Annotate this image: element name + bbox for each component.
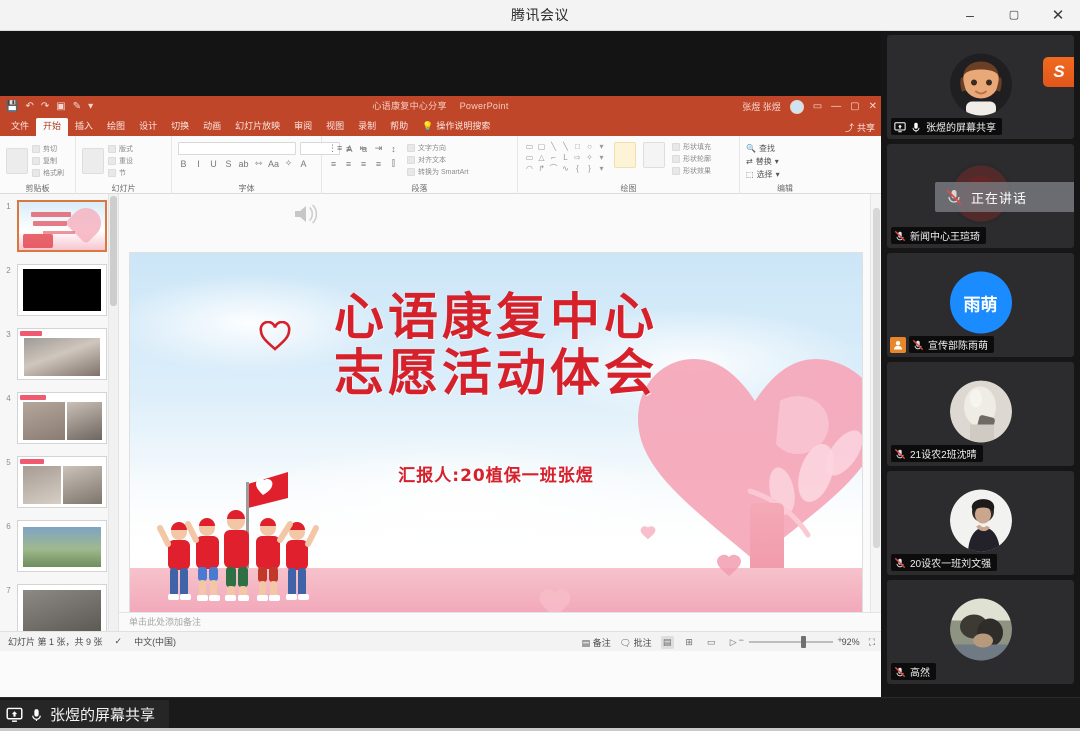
smartart-item[interactable]: 转换为 SmartArt bbox=[407, 167, 469, 177]
avatar-initials: 雨萌 bbox=[950, 272, 1012, 334]
thumbnail-number: 4 bbox=[0, 386, 17, 403]
layout-icon bbox=[108, 145, 116, 153]
bullets-icon[interactable]: ⋮≡ bbox=[328, 143, 339, 154]
mic-muted-icon bbox=[912, 339, 924, 351]
shape-rect-icon[interactable]: ▭ bbox=[524, 142, 535, 152]
mic-muted-icon bbox=[894, 557, 906, 569]
ribbon-group-slides: 版式 重设 节 幻灯片 bbox=[76, 136, 172, 194]
participant-tile-4[interactable]: 21设农2班沈晴 bbox=[887, 362, 1074, 466]
speaking-toast-label: 正在讲话 bbox=[971, 188, 1027, 207]
shadow-icon[interactable]: ab bbox=[238, 159, 249, 169]
justify-icon[interactable]: ≡ bbox=[373, 159, 384, 169]
text-direction-item[interactable]: 文字方向 bbox=[407, 143, 469, 153]
shape-fill-item[interactable]: 形状填充 bbox=[672, 142, 711, 152]
comments-label: 批注 bbox=[634, 638, 652, 648]
window-close-button[interactable]: ✕ bbox=[1036, 0, 1080, 31]
find-label: 查找 bbox=[759, 143, 775, 154]
copy-icon bbox=[32, 157, 40, 165]
participant-name-tag: 21设农2班沈晴 bbox=[891, 445, 983, 462]
mic-icon bbox=[29, 706, 44, 723]
ribbon-group-drawing: ▭ ▢ ╲ ╲ □ ○ ▾ ▭ △ ⌐ L ⇨ ✧ bbox=[518, 136, 740, 194]
thumbnail-number: 1 bbox=[0, 194, 17, 211]
layout-label: 版式 bbox=[119, 144, 133, 154]
section-label: 节 bbox=[119, 168, 126, 178]
replace-item[interactable]: ⇄替换▾ bbox=[746, 156, 780, 167]
replace-icon: ⇄ bbox=[746, 157, 753, 166]
group-label-paragraph: 段落 bbox=[328, 183, 511, 194]
zoom-knob[interactable] bbox=[801, 636, 806, 648]
speaking-toast: 正在讲话 bbox=[935, 182, 1074, 212]
editor-main-area: 1 2 bbox=[0, 194, 881, 631]
notes-pane[interactable]: 单击此处添加备注 bbox=[119, 612, 881, 631]
italic-icon[interactable]: I bbox=[193, 159, 204, 169]
select-label: 选择 bbox=[757, 169, 773, 180]
powerpoint-window: 💾 ↶ ↷ ▣ ✎ ▾ 心语康复中心分享 PowerPoint 张煜 张煜 ▭ … bbox=[0, 96, 881, 699]
find-item[interactable]: 🔍查找 bbox=[746, 143, 780, 154]
shape-freeform-icon[interactable]: ∿ bbox=[560, 164, 571, 174]
shape-triangle-icon[interactable]: △ bbox=[536, 153, 547, 163]
shape-square-icon[interactable]: □ bbox=[572, 142, 583, 152]
columns-icon[interactable]: ⫿ bbox=[388, 158, 399, 169]
search-icon: 🔍 bbox=[746, 144, 756, 153]
align-text-item[interactable]: 对齐文本 bbox=[407, 155, 469, 165]
thumbnail-number: 5 bbox=[0, 450, 17, 467]
select-icon: ⬚ bbox=[746, 170, 754, 179]
mic-icon bbox=[910, 121, 922, 133]
section-icon bbox=[108, 169, 116, 177]
increase-indent-icon[interactable]: ⇥ bbox=[373, 143, 384, 154]
section-item[interactable]: 节 bbox=[108, 168, 133, 178]
slide-thumbnail-6[interactable] bbox=[17, 520, 107, 572]
align-left-icon[interactable]: ≡ bbox=[328, 159, 339, 169]
shape-corner-icon[interactable]: ⌐ bbox=[548, 153, 559, 163]
tab-draw[interactable]: 绘图 bbox=[100, 118, 132, 136]
window-maximize-button[interactable]: ▢ bbox=[992, 0, 1036, 31]
share-button[interactable]: ⤴ 共享 bbox=[845, 121, 875, 134]
small-heart-icon bbox=[538, 587, 572, 615]
participant-tile-1[interactable]: 张煜的屏幕共享 S bbox=[887, 35, 1074, 139]
shape-oval-icon[interactable]: ○ bbox=[584, 142, 595, 152]
participant-name: 宣传部陈雨萌 bbox=[928, 337, 988, 352]
ribbon-group-font: A a B I U S ab ⇿ Aa ✧ A bbox=[172, 136, 322, 194]
shape-line2-icon[interactable]: ╲ bbox=[560, 142, 571, 152]
group-label-slides: 幻灯片 bbox=[82, 183, 165, 194]
view-slide-sorter-button[interactable]: ⊞ bbox=[683, 636, 696, 649]
smartart-icon bbox=[407, 168, 415, 176]
slide-thumbnail-4[interactable] bbox=[17, 392, 107, 444]
lightbulb-icon: 💡 bbox=[422, 120, 433, 133]
shape-fill-label: 形状填充 bbox=[683, 142, 711, 152]
thumbnail-row[interactable]: 2 bbox=[0, 258, 118, 322]
slide-thumbnail-panel[interactable]: 1 2 bbox=[0, 194, 119, 631]
host-person-icon bbox=[893, 340, 903, 350]
mic-muted-icon bbox=[894, 230, 906, 242]
window-title: 腾讯会议 bbox=[0, 0, 1080, 31]
zoom-out-icon[interactable]: − bbox=[739, 635, 744, 645]
font-color-icon[interactable]: A bbox=[298, 159, 309, 169]
small-heart-icon bbox=[640, 525, 656, 540]
sogou-ime-badge[interactable]: S bbox=[1043, 57, 1074, 87]
shape-outline-label: 形状轮廓 bbox=[683, 154, 711, 164]
format-painter-label: 格式刷 bbox=[43, 168, 64, 178]
notes-icon: ▤ bbox=[582, 638, 591, 648]
tab-transitions[interactable]: 切换 bbox=[164, 118, 196, 136]
reset-item[interactable]: 重设 bbox=[108, 156, 133, 166]
slide-thumbnail-2[interactable] bbox=[17, 264, 107, 316]
tab-slideshow[interactable]: 幻灯片放映 bbox=[228, 118, 287, 136]
avatar bbox=[950, 54, 1012, 116]
reset-label: 重设 bbox=[119, 156, 133, 166]
shape-star-icon[interactable]: ✧ bbox=[584, 153, 595, 163]
thumbnail-row[interactable]: 4 bbox=[0, 386, 118, 450]
ribbon-tab-strip[interactable]: 文件 开始 插入 绘图 设计 切换 动画 幻灯片放映 审阅 视图 录制 帮助 💡… bbox=[0, 117, 881, 136]
new-slide-icon[interactable] bbox=[82, 148, 104, 174]
shapes-more-icon[interactable]: ▾ bbox=[596, 142, 607, 152]
line-spacing-icon[interactable]: ↕ bbox=[388, 144, 399, 154]
participant-name-tag: 新闻中心王瑄琦 bbox=[891, 227, 986, 244]
align-right-icon[interactable]: ≡ bbox=[358, 159, 369, 169]
numbering-icon[interactable]: ≡ bbox=[343, 144, 354, 154]
share-icon: ⤴ bbox=[845, 121, 854, 134]
account-avatar[interactable] bbox=[790, 100, 804, 114]
align-center-icon[interactable]: ≡ bbox=[343, 159, 354, 169]
mic-muted-icon bbox=[945, 188, 963, 206]
shape-effects-label: 形状效果 bbox=[683, 166, 711, 176]
status-left: 幻灯片 第 1 张，共 9 张 ✓ 中文(中国) bbox=[0, 635, 176, 648]
cut-item[interactable]: 剪切 bbox=[32, 144, 64, 154]
tab-design[interactable]: 设计 bbox=[132, 118, 164, 136]
tab-record[interactable]: 录制 bbox=[351, 118, 383, 136]
small-heart-icon bbox=[716, 553, 742, 577]
avatar-initials-text: 雨萌 bbox=[964, 290, 998, 315]
reset-icon bbox=[108, 157, 116, 165]
zoom-level-label[interactable]: 92% bbox=[842, 637, 860, 647]
bottom-share-label: 张煜的屏幕共享 bbox=[50, 704, 155, 725]
shape-L-icon[interactable]: L bbox=[560, 153, 571, 163]
participant-name: 张煜的屏幕共享 bbox=[926, 119, 996, 134]
zoom-in-icon[interactable]: + bbox=[837, 635, 842, 645]
language-label[interactable]: 中文(中国) bbox=[134, 635, 176, 648]
view-reading-button[interactable]: ▭ bbox=[705, 636, 718, 649]
window-minimize-button[interactable]: – bbox=[948, 0, 992, 31]
copy-label: 复制 bbox=[43, 156, 57, 166]
strikethrough-icon[interactable]: S bbox=[223, 159, 234, 169]
participant-name: 21设农2班沈晴 bbox=[910, 446, 977, 461]
comments-button[interactable]: 🗨 批注 bbox=[620, 636, 652, 649]
slide-counter: 幻灯片 第 1 张，共 9 张 bbox=[8, 635, 103, 648]
replace-label: 替换 bbox=[756, 156, 772, 167]
font-family-input[interactable] bbox=[178, 142, 296, 155]
thumbnail-row[interactable]: 1 bbox=[0, 194, 118, 258]
character-spacing-icon[interactable]: ⇿ bbox=[253, 158, 264, 169]
shape-curve-icon[interactable]: ◠ bbox=[524, 164, 535, 174]
slide-thumbnail-5[interactable] bbox=[17, 456, 107, 508]
underline-icon[interactable]: U bbox=[208, 159, 219, 169]
select-chevron-icon[interactable]: ▾ bbox=[776, 170, 780, 179]
thumbnail-row[interactable]: 5 bbox=[0, 450, 118, 514]
text-direction-icon bbox=[407, 144, 415, 152]
tab-animations[interactable]: 动画 bbox=[196, 118, 228, 136]
slide-thumbnail-1[interactable] bbox=[17, 200, 107, 252]
ribbon-group-clipboard: 剪切 复制 格式刷 剪贴板 bbox=[0, 136, 76, 194]
tab-file[interactable]: 文件 bbox=[4, 118, 36, 136]
audio-speaker-icon[interactable] bbox=[292, 202, 322, 226]
tell-me-label: 操作说明搜索 bbox=[436, 120, 490, 133]
arrange-icon[interactable] bbox=[614, 142, 636, 168]
slide-editing-pane: 心语康复中心 志愿活动体会 汇报人:20植保一班张煜 bbox=[119, 194, 881, 631]
shape-roundrect-icon[interactable]: ▭ bbox=[524, 153, 535, 163]
shape-effects-item[interactable]: 形状效果 bbox=[672, 166, 711, 176]
ribbon-display-icon[interactable]: ▭ bbox=[813, 101, 822, 112]
shape-arrow2-icon[interactable]: ↱ bbox=[536, 164, 547, 174]
tab-insert[interactable]: 插入 bbox=[68, 118, 100, 136]
vertical-scrollbar-thumb[interactable] bbox=[873, 208, 880, 548]
comment-icon: 🗨 bbox=[620, 638, 631, 648]
slide-thumbnail-3[interactable] bbox=[17, 328, 107, 380]
shapes-gallery[interactable]: ▭ ▢ ╲ ╲ □ ○ ▾ ▭ △ ⌐ L ⇨ ✧ bbox=[524, 142, 607, 174]
participant-name: 新闻中心王瑄琦 bbox=[910, 228, 980, 243]
paste-icon[interactable] bbox=[6, 148, 28, 174]
ribbon-body: 剪切 复制 格式刷 剪贴板 版式 重设 节 bbox=[0, 136, 881, 194]
account-label: 张煜 张煜 bbox=[742, 100, 781, 113]
ppt-close-icon[interactable]: ✕ bbox=[869, 101, 877, 112]
decrease-indent-icon[interactable]: ⇤ bbox=[358, 143, 369, 154]
slide-title-line2: 志愿活动体会 bbox=[130, 345, 862, 401]
align-text-icon bbox=[407, 156, 415, 164]
participant-name-tag: 宣传部陈雨萌 bbox=[909, 336, 994, 353]
shape-outline-item[interactable]: 形状轮廓 bbox=[672, 154, 711, 164]
shape-outline-icon bbox=[672, 155, 680, 163]
app-name: PowerPoint bbox=[460, 101, 509, 111]
smartart-label: 转换为 SmartArt bbox=[418, 167, 469, 177]
thumbnail-row[interactable]: 3 bbox=[0, 322, 118, 386]
tab-tell-me[interactable]: 💡 操作说明搜索 bbox=[415, 118, 497, 136]
tab-home[interactable]: 开始 bbox=[36, 118, 68, 136]
text-direction-label: 文字方向 bbox=[418, 143, 446, 153]
thumbnail-scrollbar-thumb[interactable] bbox=[110, 196, 117, 306]
powerpoint-window-controls[interactable]: 张煜 张煜 ▭ — ▢ ✕ bbox=[742, 98, 877, 115]
screen-share-icon bbox=[6, 706, 23, 723]
participant-rail[interactable]: 张煜的屏幕共享 S 正在讲话 bbox=[881, 31, 1080, 697]
share-label: 共享 bbox=[857, 121, 875, 134]
tab-help[interactable]: 帮助 bbox=[383, 118, 415, 136]
host-badge bbox=[890, 337, 906, 353]
replace-chevron-icon[interactable]: ▾ bbox=[775, 157, 779, 166]
participant-tile-3[interactable]: 雨萌 宣传部陈雨萌 bbox=[887, 253, 1074, 357]
shape-line-icon[interactable]: ╲ bbox=[548, 142, 559, 152]
shape-rect2-icon[interactable]: ▢ bbox=[536, 142, 547, 152]
participant-name-tag: 20设农一班刘文强 bbox=[891, 554, 997, 571]
meeting-bottom-bar: 张煜的屏幕共享 bbox=[0, 697, 1080, 731]
participant-tile-2[interactable]: 正在讲话 新闻中心王瑄琦 bbox=[887, 144, 1074, 248]
screen-share-icon bbox=[894, 121, 906, 133]
tencent-meeting-window: 腾讯会议 – ▢ ✕ 💾 ↶ ↷ ▣ ✎ ▾ 心语康复中心分享 PowerPoi… bbox=[0, 0, 1080, 731]
shapes-expand-icon[interactable]: ▾ bbox=[596, 164, 607, 174]
align-text-label: 对齐文本 bbox=[418, 155, 446, 165]
layout-item[interactable]: 版式 bbox=[108, 144, 133, 154]
status-right[interactable]: ▤ 备注 🗨 批注 ▤ ⊞ ▭ ▷ − + bbox=[582, 632, 875, 652]
screen-share-indicator[interactable]: 张煜的屏幕共享 bbox=[0, 700, 169, 728]
volunteers-illustration bbox=[152, 466, 352, 606]
thumbnail-scrollbar[interactable] bbox=[108, 194, 118, 631]
ppt-restore-icon[interactable]: ▢ bbox=[850, 101, 859, 112]
slide-thumbnail-7[interactable] bbox=[17, 584, 107, 631]
avatar bbox=[950, 599, 1012, 661]
change-case-icon[interactable]: Aa bbox=[268, 159, 279, 169]
thumbnail-row[interactable]: 7 bbox=[0, 578, 118, 631]
shape-brace-left-icon[interactable]: { bbox=[572, 164, 583, 174]
thumbnail-row[interactable]: 6 bbox=[0, 514, 118, 578]
tab-view[interactable]: 视图 bbox=[319, 118, 351, 136]
ribbon-group-editing: 🔍查找 ⇄替换▾ ⬚选择▾ 编辑 bbox=[740, 136, 830, 194]
document-title: 心语康复中心分享 bbox=[372, 101, 446, 111]
shape-fill-icon bbox=[672, 143, 680, 151]
zoom-track[interactable] bbox=[749, 641, 833, 643]
shape-scroll-icon[interactable]: ▾ bbox=[596, 153, 607, 163]
thumbnail-number: 7 bbox=[0, 578, 17, 595]
slide-canvas[interactable]: 心语康复中心 志愿活动体会 汇报人:20植保一班张煜 bbox=[129, 252, 863, 615]
copy-item[interactable]: 复制 bbox=[32, 156, 64, 166]
clear-format-icon[interactable]: ✧ bbox=[283, 158, 294, 169]
participant-name: 20设农一班刘文强 bbox=[910, 555, 991, 570]
cut-icon bbox=[32, 145, 40, 153]
group-label-font: 字体 bbox=[178, 183, 315, 194]
format-painter-item[interactable]: 格式刷 bbox=[32, 168, 64, 178]
ppt-minimize-icon[interactable]: — bbox=[831, 101, 841, 112]
shared-screen-stage: 💾 ↶ ↷ ▣ ✎ ▾ 心语康复中心分享 PowerPoint 张煜 张煜 ▭ … bbox=[0, 31, 881, 731]
group-label-editing: 编辑 bbox=[746, 183, 824, 194]
bold-icon[interactable]: B bbox=[178, 159, 189, 169]
mic-muted-icon bbox=[894, 666, 906, 678]
proofing-icon[interactable]: ✓ bbox=[115, 636, 123, 647]
avatar bbox=[950, 490, 1012, 552]
participant-name-tag: 高然 bbox=[891, 663, 936, 680]
zoom-slider[interactable]: − + bbox=[749, 636, 833, 648]
slide-title[interactable]: 心语康复中心 志愿活动体会 bbox=[130, 289, 862, 401]
shape-brace-right-icon[interactable]: } bbox=[584, 164, 595, 174]
quick-styles-icon[interactable] bbox=[643, 142, 665, 168]
participant-tile-6[interactable]: 高然 bbox=[887, 580, 1074, 684]
format-painter-icon bbox=[32, 169, 40, 177]
slide-pane-vertical-scrollbar[interactable] bbox=[870, 194, 881, 631]
select-item[interactable]: ⬚选择▾ bbox=[746, 169, 780, 180]
group-label-drawing: 绘图 bbox=[524, 183, 733, 194]
thumbnail-number: 2 bbox=[0, 258, 17, 275]
window-title-bar: 腾讯会议 – ▢ ✕ bbox=[0, 0, 1080, 31]
thumbnail-number: 6 bbox=[0, 514, 17, 531]
avatar bbox=[950, 381, 1012, 443]
shape-effects-icon bbox=[672, 167, 680, 175]
mic-muted-icon bbox=[894, 448, 906, 460]
view-normal-button[interactable]: ▤ bbox=[661, 636, 674, 649]
participant-tile-5[interactable]: 20设农一班刘文强 bbox=[887, 471, 1074, 575]
powerpoint-status-bar: 幻灯片 第 1 张，共 9 张 ✓ 中文(中国) ▤ 备注 🗨 批注 ▤ ⊞ bbox=[0, 631, 881, 651]
powerpoint-quick-access-bar: 💾 ↶ ↷ ▣ ✎ ▾ 心语康复中心分享 PowerPoint 张煜 张煜 ▭ … bbox=[0, 96, 881, 117]
shape-arrow-icon[interactable]: ⇨ bbox=[572, 153, 583, 163]
participant-name-tag: 张煜的屏幕共享 bbox=[891, 118, 1002, 135]
notes-label: 备注 bbox=[593, 638, 611, 648]
tab-review[interactable]: 审阅 bbox=[287, 118, 319, 136]
shape-arc-icon[interactable]: ⌒ bbox=[548, 164, 559, 174]
notes-button[interactable]: ▤ 备注 bbox=[582, 636, 611, 649]
thumbnail-number: 3 bbox=[0, 322, 17, 339]
cut-label: 剪切 bbox=[43, 144, 57, 154]
ribbon-group-paragraph: ⋮≡ ≡ ⇤ ⇥ ↕ ≡ ≡ ≡ ≡ ⫿ bbox=[322, 136, 518, 194]
group-label-clipboard: 剪贴板 bbox=[6, 183, 69, 194]
participant-name: 高然 bbox=[910, 664, 930, 679]
slide-title-line1: 心语康复中心 bbox=[334, 288, 658, 346]
fit-slide-button[interactable]: ⛶ bbox=[869, 637, 875, 648]
